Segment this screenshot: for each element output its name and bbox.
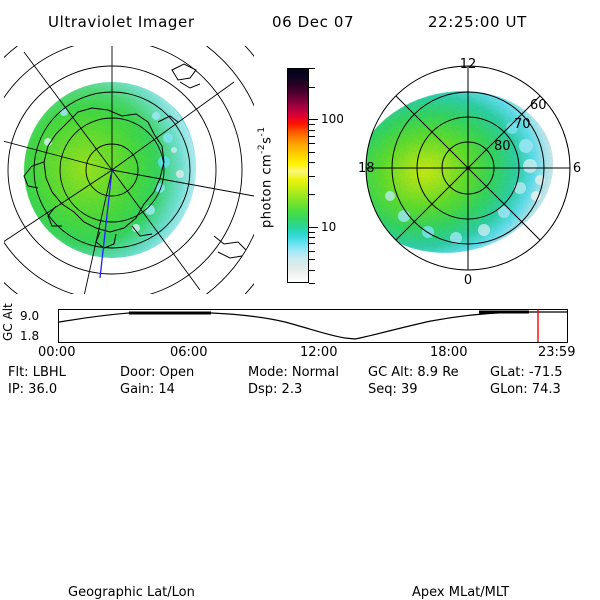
magnetic-plot-caption: Apex MLat/MLT	[412, 586, 509, 599]
status-field-door: Door: Open	[120, 365, 194, 380]
time-tick-2359: 23:59	[538, 345, 575, 360]
colorbar-minor-tick	[309, 162, 315, 163]
geographic-polar-plot	[4, 46, 254, 294]
magnetic-polar-plot: 12 6 0 18 60 70 80	[344, 46, 594, 294]
colorbar-minor-tick	[309, 259, 315, 260]
mlt-label-0: 0	[464, 273, 472, 288]
time-tick-0600: 06:00	[170, 345, 207, 360]
colorbar-minor-tick	[309, 232, 315, 233]
colorbar-minor-tick	[309, 143, 315, 144]
colorbar-minor-tick	[309, 251, 315, 252]
time-tick-1200: 12:00	[300, 345, 337, 360]
colorbar-minor-tick	[309, 152, 315, 153]
status-field-seq: Seq: 39	[368, 382, 418, 397]
colorbar-minor-tick	[309, 176, 315, 177]
colorbar-minor-tick	[309, 124, 315, 125]
colorbar-minor-tick	[309, 136, 315, 137]
colorbar-minor-tick	[309, 237, 315, 238]
colorbar: 10010	[287, 68, 309, 283]
status-bar: Flt: LBHLDoor: OpenMode: NormalGC Alt: 8…	[0, 365, 600, 399]
time-tick-0000: 00:00	[38, 345, 75, 360]
status-field-glon: GLon: 74.3	[490, 382, 561, 397]
colorbar-major-tick	[309, 227, 318, 228]
gc-alt-axis-label: GC Alt	[2, 300, 16, 344]
orbit-altitude-plot[interactable]	[58, 309, 568, 343]
observation-time: 22:25:00 UT	[428, 15, 527, 30]
status-field-glat: GLat: -71.5	[490, 365, 563, 380]
colorbar-minor-tick	[309, 194, 315, 195]
application-window: Ultraviolet Imager 06 Dec 07 22:25:00 UT	[0, 0, 600, 400]
gc-alt-tick-low: 1.8	[20, 330, 39, 342]
mlt-label-18: 18	[358, 161, 375, 176]
colorbar-axis-label: photon cm-2s-1	[258, 92, 276, 262]
mlat-label-60: 60	[530, 98, 547, 113]
status-field-mode: Mode: Normal	[248, 365, 339, 380]
status-field-gain: Gain: 14	[120, 382, 175, 397]
mlat-label-70: 70	[514, 117, 531, 132]
geographic-plot-caption: Geographic Lat/Lon	[68, 586, 195, 599]
gc-alt-tick-high: 9.0	[20, 310, 39, 322]
colorbar-tick-label: 100	[321, 112, 344, 126]
status-field-ip: IP: 36.0	[8, 382, 57, 397]
status-field-flt: Flt: LBHL	[8, 365, 66, 380]
altitude-track-line	[59, 312, 567, 339]
observation-date: 06 Dec 07	[272, 15, 354, 30]
header-bar: Ultraviolet Imager 06 Dec 07 22:25:00 UT	[0, 6, 600, 30]
colorbar-gradient	[287, 68, 309, 283]
colorbar-minor-tick	[309, 87, 315, 88]
mlat-label-80: 80	[494, 139, 511, 154]
colorbar-minor-tick	[309, 130, 315, 131]
mlt-spokes	[366, 66, 570, 270]
mlt-label-6: 6	[573, 161, 581, 176]
time-tick-1800: 18:00	[430, 345, 467, 360]
colorbar-minor-tick	[309, 270, 315, 271]
status-field-gc-alt: GC Alt: 8.9 Re	[368, 365, 459, 380]
colorbar-minor-tick	[309, 68, 315, 69]
colorbar-major-tick	[309, 119, 318, 120]
colorbar-tick-label: 10	[321, 220, 336, 234]
mlt-label-12: 12	[460, 57, 477, 72]
colorbar-minor-tick	[309, 283, 315, 284]
colorbar-minor-tick	[309, 243, 315, 244]
status-field-dsp: Dsp: 2.3	[248, 382, 302, 397]
page-title: Ultraviolet Imager	[48, 15, 195, 30]
